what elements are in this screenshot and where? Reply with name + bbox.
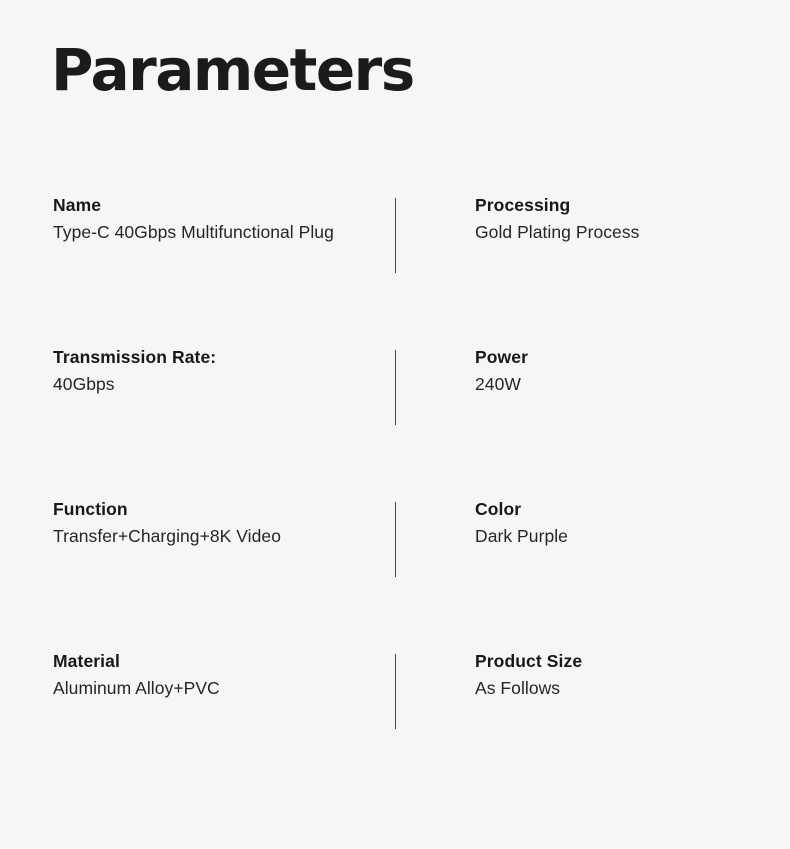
spec-cell-function: Function Transfer+Charging+8K Video (53, 496, 383, 551)
spec-row: Material Aluminum Alloy+PVC Product Size… (0, 634, 790, 786)
spec-label: Power (475, 344, 765, 371)
page-title: Parameters (51, 40, 414, 101)
spec-value: Dark Purple (475, 523, 765, 551)
spec-value: As Follows (475, 675, 765, 703)
spec-label: Name (53, 192, 383, 219)
spec-value: Type-C 40Gbps Multifunctional Plug (53, 219, 383, 247)
column-divider (395, 502, 396, 577)
spec-row: Transmission Rate: 40Gbps Power 240W (0, 330, 790, 482)
spec-value: Aluminum Alloy+PVC (53, 675, 383, 703)
spec-value: Transfer+Charging+8K Video (53, 523, 383, 551)
spec-cell-transmission-rate: Transmission Rate: 40Gbps (53, 344, 383, 399)
spec-row: Name Type-C 40Gbps Multifunctional Plug … (0, 178, 790, 330)
column-divider (395, 350, 396, 425)
column-divider (395, 198, 396, 273)
specifications-table: Name Type-C 40Gbps Multifunctional Plug … (0, 178, 790, 786)
spec-label: Function (53, 496, 383, 523)
spec-cell-name: Name Type-C 40Gbps Multifunctional Plug (53, 192, 383, 247)
spec-value: Gold Plating Process (475, 219, 765, 247)
spec-cell-power: Power 240W (475, 344, 765, 399)
spec-value: 40Gbps (53, 371, 383, 399)
spec-label: Material (53, 648, 383, 675)
spec-cell-color: Color Dark Purple (475, 496, 765, 551)
spec-value: 240W (475, 371, 765, 399)
spec-row: Function Transfer+Charging+8K Video Colo… (0, 482, 790, 634)
spec-cell-processing: Processing Gold Plating Process (475, 192, 765, 247)
spec-label: Color (475, 496, 765, 523)
spec-cell-product-size: Product Size As Follows (475, 648, 765, 703)
spec-label: Processing (475, 192, 765, 219)
spec-label: Product Size (475, 648, 765, 675)
parameters-page: Parameters Name Type-C 40Gbps Multifunct… (0, 0, 790, 849)
spec-label: Transmission Rate: (53, 344, 383, 371)
spec-cell-material: Material Aluminum Alloy+PVC (53, 648, 383, 703)
column-divider (395, 654, 396, 729)
